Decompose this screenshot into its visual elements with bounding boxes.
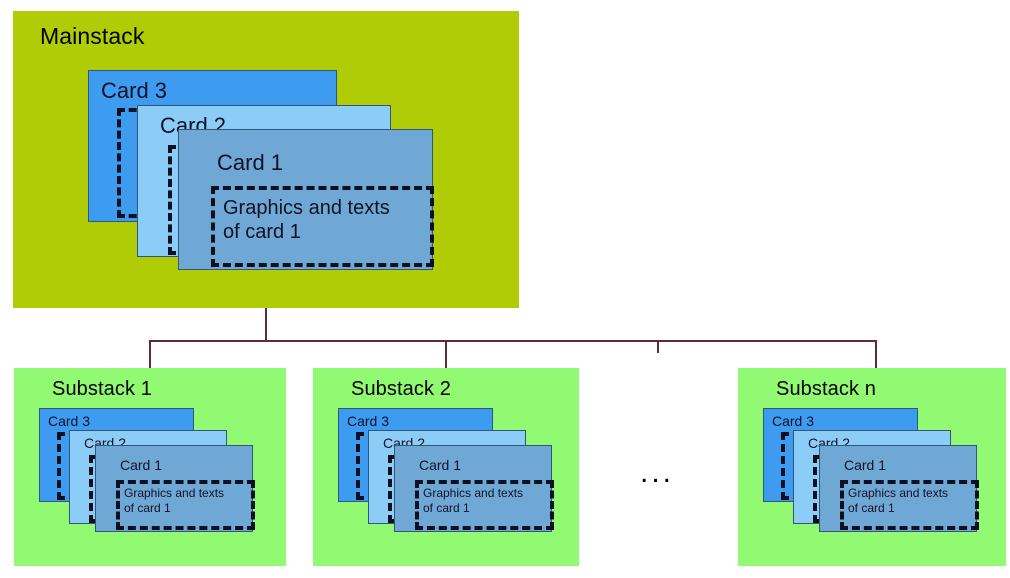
substack-1-card-1[interactable]: Card 1 Graphics and texts of card 1 [95, 445, 253, 532]
substack-n-title: Substack n [776, 378, 876, 401]
substack-1-container: Substack 1 Card 3 Card 2 Card 1 Graphics… [14, 368, 286, 566]
substack-2-card-1[interactable]: Card 1 Graphics and texts of card 1 [394, 445, 552, 532]
substack-1-title: Substack 1 [52, 378, 152, 401]
substack-n-card-1-content-text: Graphics and texts of card 1 [848, 486, 948, 515]
substack-2-container: Substack 2 Card 3 Card 2 Card 1 Graphics… [313, 368, 579, 566]
substack-2-card-1-label: Card 1 [419, 457, 461, 473]
substack-n-card-3-label: Card 3 [772, 413, 814, 429]
mainstack-title: Mainstack [40, 23, 144, 50]
substack-1-card-3-label: Card 3 [48, 413, 90, 429]
substack-n-container: Substack n Card 3 Card 2 Card 1 Graphics… [738, 368, 1006, 566]
mainstack-card-1-label: Card 1 [217, 150, 283, 176]
substack-n-card-1[interactable]: Card 1 Graphics and texts of card 1 [819, 445, 977, 532]
connector-drop-substack-n [875, 340, 877, 368]
connector-trunk [265, 308, 267, 341]
diagram-canvas: Mainstack Card 3 Card 2 Card 1 Graphics … [0, 0, 1010, 578]
mainstack-card-1-content-text: Graphics and texts of card 1 [223, 196, 390, 245]
connector-horizontal-bus [149, 340, 877, 342]
substack-2-card-1-content-text: Graphics and texts of card 1 [423, 486, 523, 515]
substack-2-card-3-label: Card 3 [347, 413, 389, 429]
mainstack-container: Mainstack Card 3 Card 2 Card 1 Graphics … [13, 11, 519, 308]
substack-1-card-1-content-text: Graphics and texts of card 1 [124, 486, 224, 515]
substack-1-card-1-label: Card 1 [120, 457, 162, 473]
mainstack-card-1[interactable]: Card 1 Graphics and texts of card 1 [178, 129, 433, 270]
mainstack-card-3-label: Card 3 [101, 78, 167, 104]
connector-drop-ellipsis [657, 340, 659, 353]
substack-n-card-1-label: Card 1 [844, 457, 886, 473]
connector-drop-substack-1 [149, 340, 151, 368]
connector-drop-substack-2 [445, 340, 447, 368]
ellipsis-indicator: ... [640, 458, 674, 488]
substack-2-title: Substack 2 [351, 378, 451, 401]
